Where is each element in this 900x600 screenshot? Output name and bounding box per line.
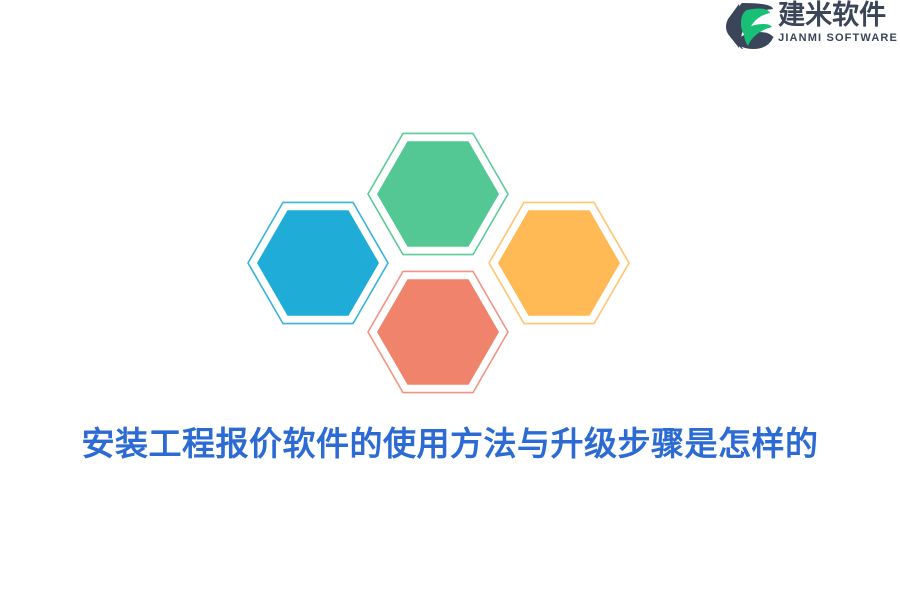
hexagon-blue-outline: [248, 202, 388, 323]
page-title: 安装工程报价软件的使用方法与升级步骤是怎样的: [0, 420, 900, 468]
hexagon-green: [368, 133, 508, 254]
hexagon-cluster-svg: [0, 0, 900, 430]
brand-name-cn: 建米软件: [778, 1, 898, 31]
jianmi-leaf-logo-icon: [724, 2, 774, 50]
hexagon-blue-fill: [257, 210, 379, 316]
hexagon-green-fill: [377, 141, 499, 247]
hexagon-green-outline: [368, 133, 508, 254]
hexagon-salmon-outline: [368, 271, 508, 392]
brand-name-en: JIANMI SOFTWARE: [778, 32, 898, 45]
brand-logo[interactable]: 建米软件 JIANMI SOFTWARE: [724, 0, 898, 54]
page-root: 建米软件 JIANMI SOFTWARE: [0, 0, 900, 600]
hexagon-orange: [489, 202, 629, 323]
hexagon-orange-fill: [498, 210, 620, 316]
hexagon-blue: [248, 202, 388, 323]
hexagon-salmon: [368, 271, 508, 392]
hexagon-salmon-fill: [377, 279, 499, 385]
brand-text-block: 建米软件 JIANMI SOFTWARE: [778, 0, 898, 45]
hexagon-cluster: [0, 0, 900, 430]
hexagon-orange-outline: [489, 202, 629, 323]
